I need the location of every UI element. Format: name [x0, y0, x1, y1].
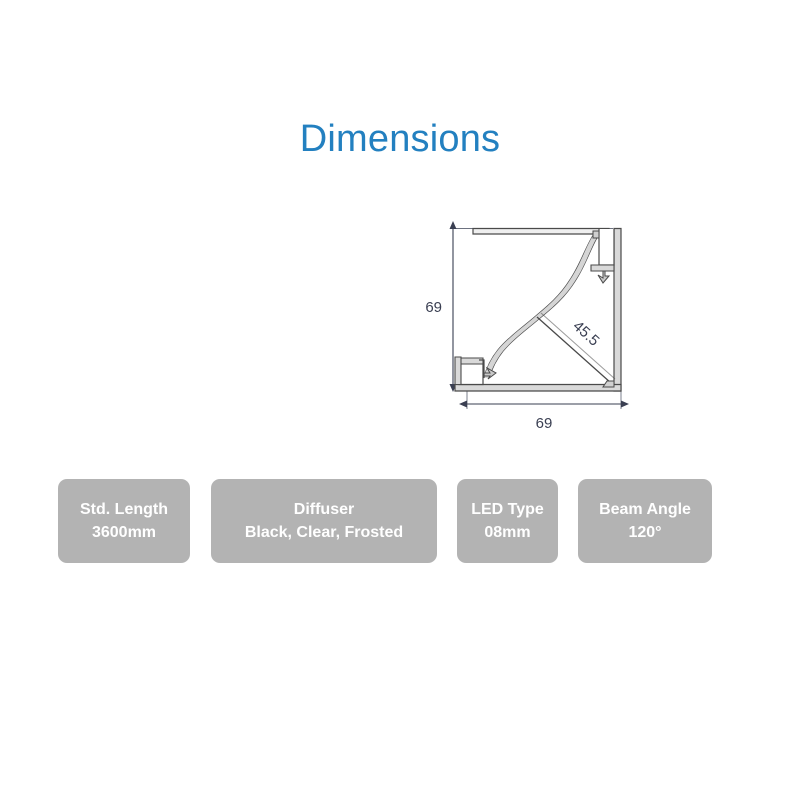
spec-box-beam-angle[interactable]: Beam Angle 120° [578, 479, 712, 563]
spec-label: Beam Angle [599, 498, 691, 521]
s-curve-inner [484, 231, 596, 378]
spec-value: 08mm [484, 521, 530, 544]
top-right-channel [591, 229, 614, 283]
top-plate [473, 229, 609, 235]
page-title: Dimensions [0, 118, 800, 161]
dimension-width-label: 69 [536, 415, 553, 432]
spec-label: Std. Length [80, 498, 168, 521]
dimension-width: 69 [467, 404, 621, 432]
spec-label: Diffuser [294, 498, 354, 521]
spec-value: 120° [628, 521, 661, 544]
dimension-height-label: 69 [425, 299, 442, 316]
right-outer-wall [614, 229, 621, 392]
bottom-outer-wall [455, 385, 621, 392]
profile-body: 45.5 [455, 229, 621, 392]
spec-value: Black, Clear, Frosted [245, 521, 403, 544]
spec-box-std-length[interactable]: Std. Length 3600mm [58, 479, 190, 563]
spec-boxes: Std. Length 3600mm Diffuser Black, Clear… [58, 479, 718, 565]
dimension-height: 69 [425, 229, 453, 384]
dimension-diffuser: 45.5 [569, 318, 602, 350]
spec-label: LED Type [471, 498, 544, 521]
profile-drawing: 69 69 [415, 205, 665, 455]
spec-value: 3600mm [92, 521, 156, 544]
dimension-diffuser-label: 45.5 [569, 318, 602, 350]
dimensions-page: Dimensions [0, 0, 800, 800]
spec-box-diffuser[interactable]: Diffuser Black, Clear, Frosted [211, 479, 437, 563]
s-curve-wall-fill [484, 231, 601, 378]
spec-box-led-type[interactable]: LED Type 08mm [457, 479, 558, 563]
